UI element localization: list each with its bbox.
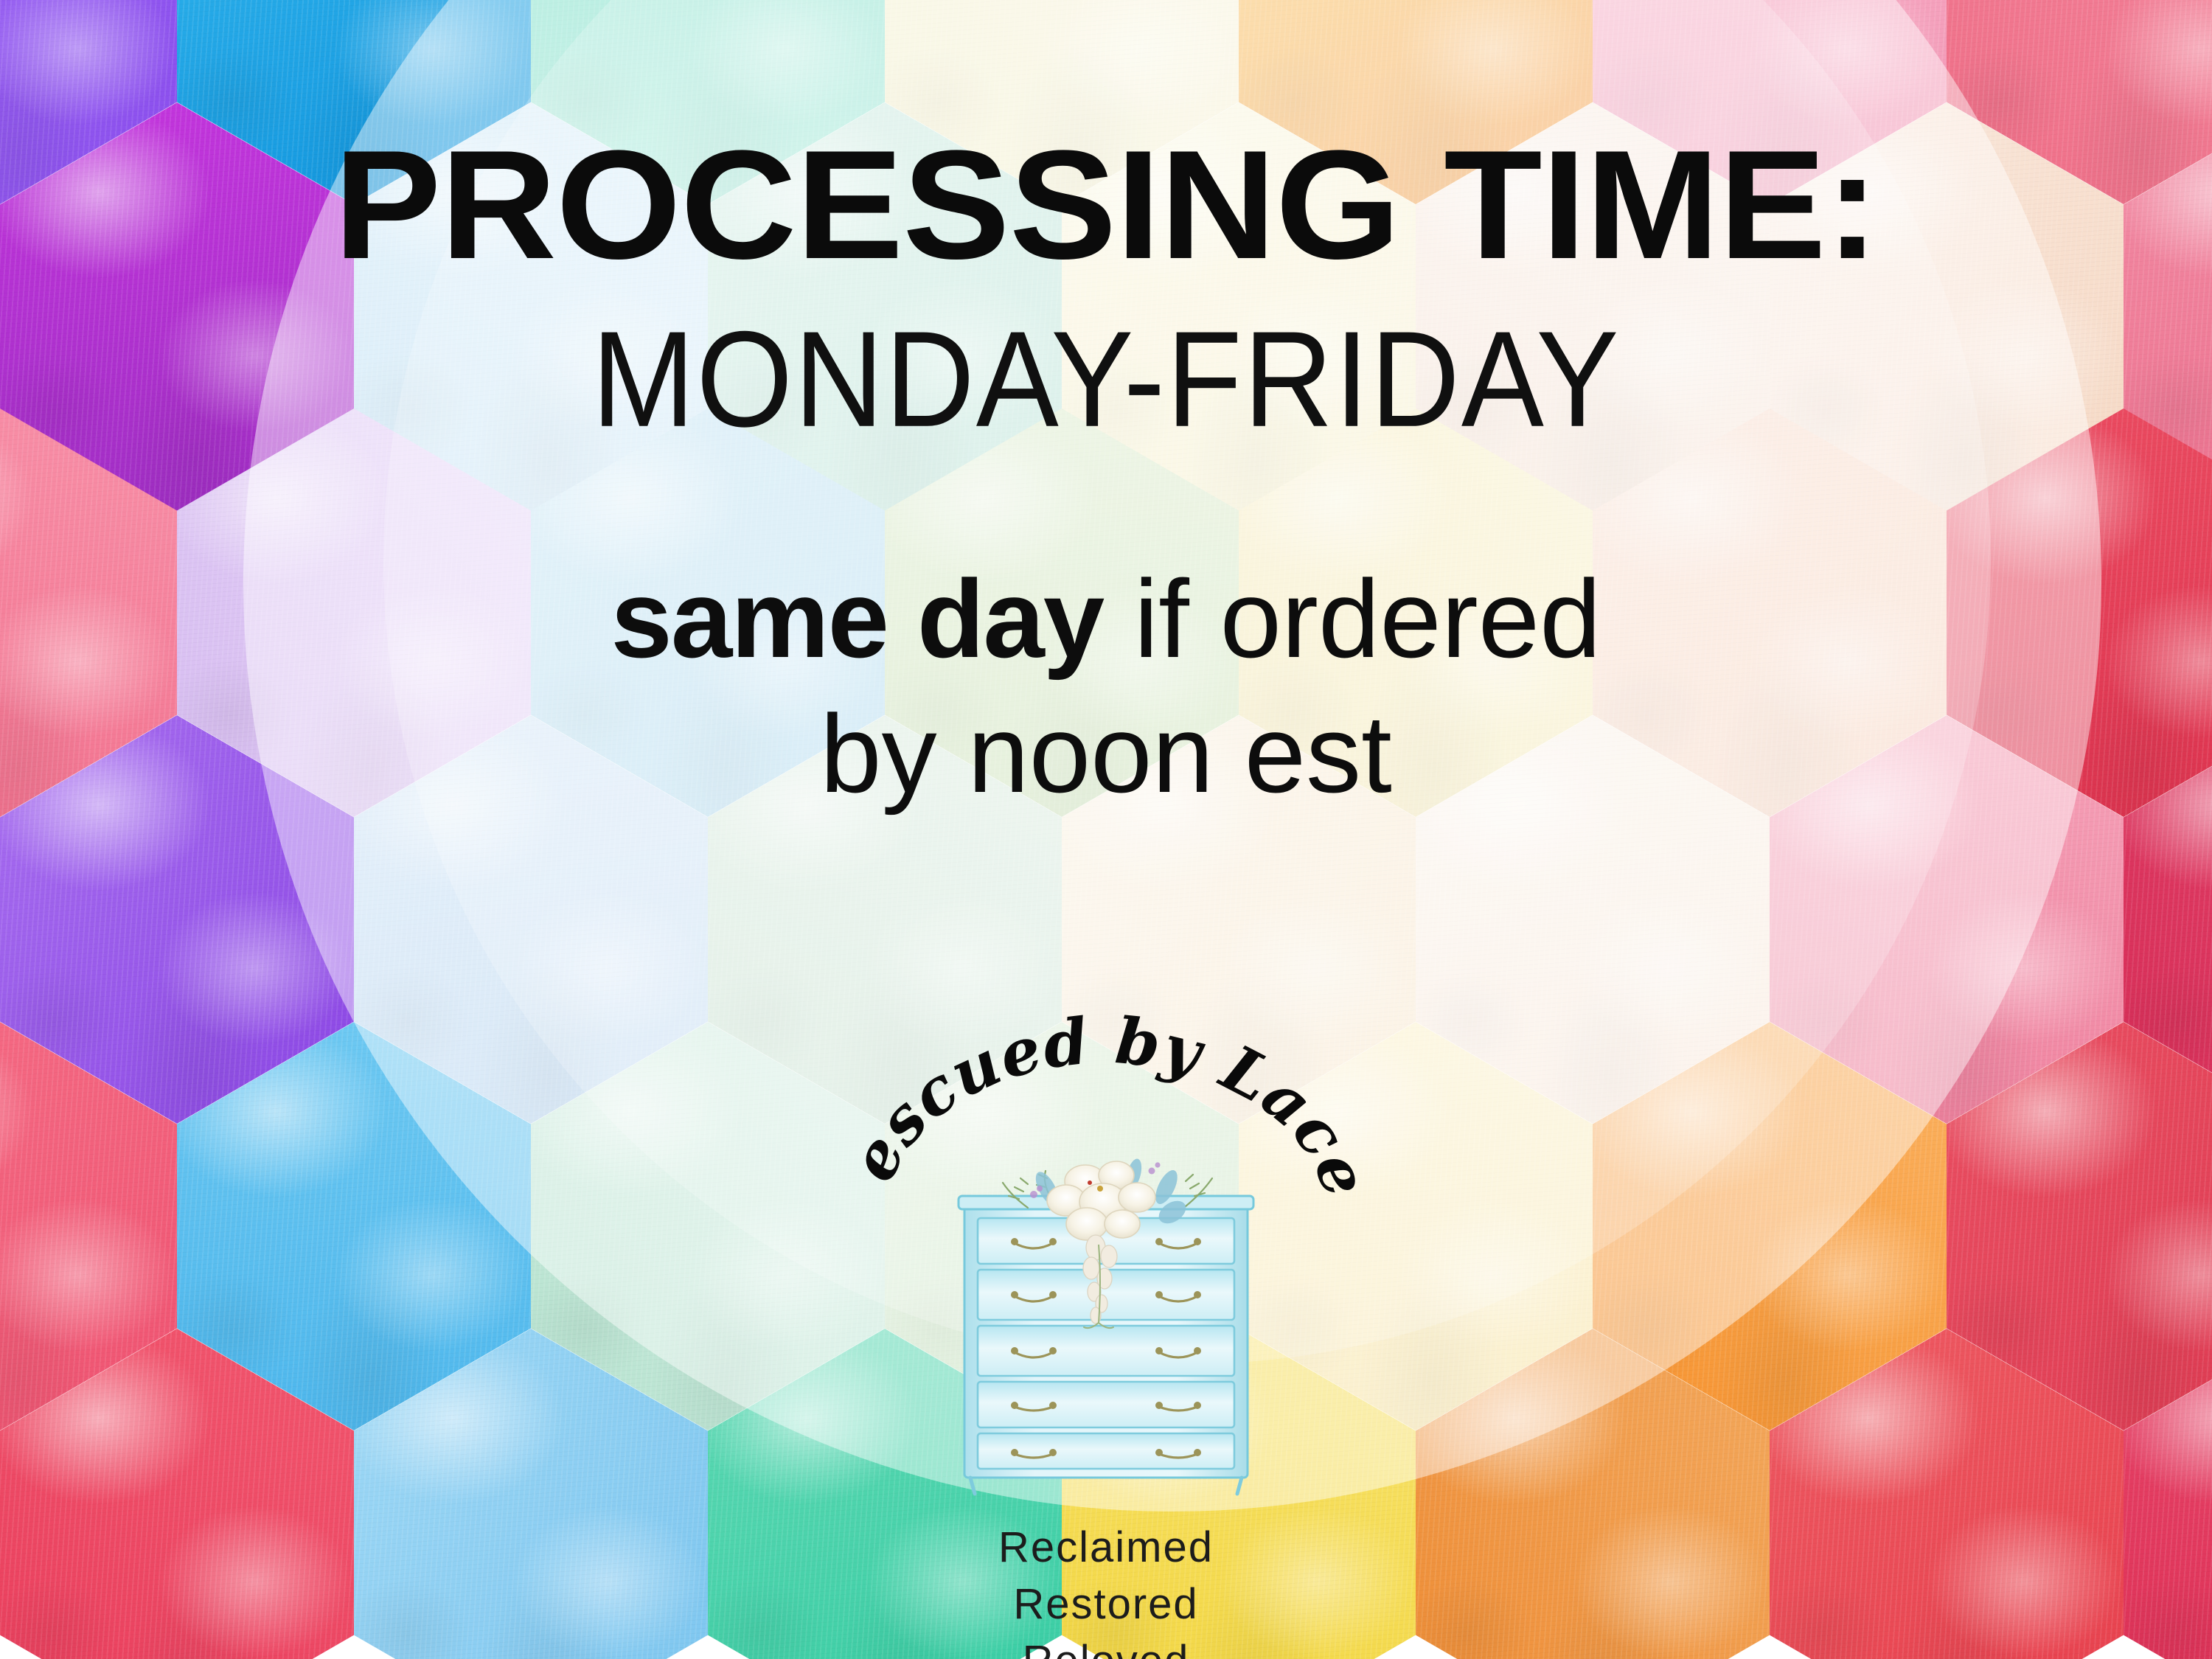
tagline-line-2: Restored [998,1576,1214,1632]
page-title: PROCESSING TIME: [334,131,1879,279]
promo-line-1-rest: if ordered [1103,557,1601,681]
tagline-line-1: Reclaimed [998,1519,1214,1576]
subtitle-days: MONDAY-FRIDAY [591,310,1620,447]
tagline-line-3: Reloved [998,1632,1214,1659]
promo-line-2: by noon est [611,686,1601,821]
promo-poster: PROCESSING TIME: MONDAY-FRIDAY same day … [0,0,2212,1659]
brand-logo: Rescued by Lacey [877,1032,1335,1659]
promo-text: same day if ordered by noon est [611,552,1601,821]
promo-emphasis: same day [611,557,1103,681]
dresser-illustration [951,1156,1261,1503]
promo-line-1: same day if ordered [611,552,1601,686]
brand-tagline: Reclaimed Restored Reloved [998,1519,1214,1659]
